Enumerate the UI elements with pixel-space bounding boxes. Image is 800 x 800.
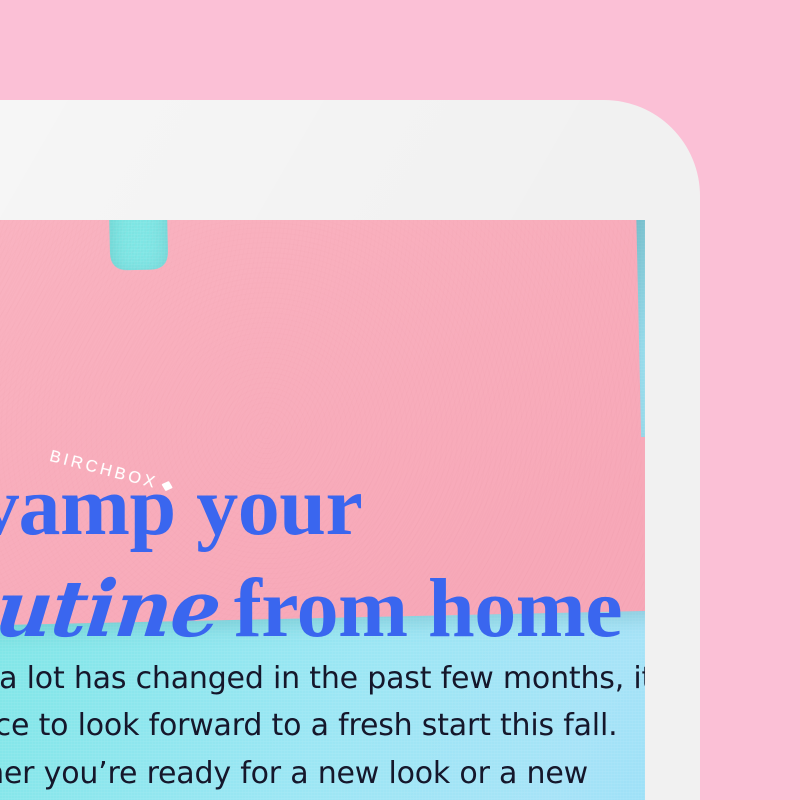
body-line: still nice to look forward to a fresh st… [0,702,645,749]
headline-line-2: routinefrom home [0,567,645,651]
tablet-screen: BIRCHBOX revamp your routinefrom home Wh… [0,220,645,800]
body-line: Whether you’re ready for a new look or a… [0,750,645,797]
headline-line-1: revamp your [0,465,645,549]
email-headline: revamp your routinefrom home [0,465,645,651]
headline-script-word: routine [0,571,224,649]
headline-serif-tail: from home [234,567,622,651]
screenshot-stage: BIRCHBOX revamp your routinefrom home Wh… [0,0,800,800]
pink-card-shadow [200,220,645,417]
body-line: While a lot has changed in the past few … [0,655,645,702]
email-body-copy: While a lot has changed in the past few … [0,655,645,797]
